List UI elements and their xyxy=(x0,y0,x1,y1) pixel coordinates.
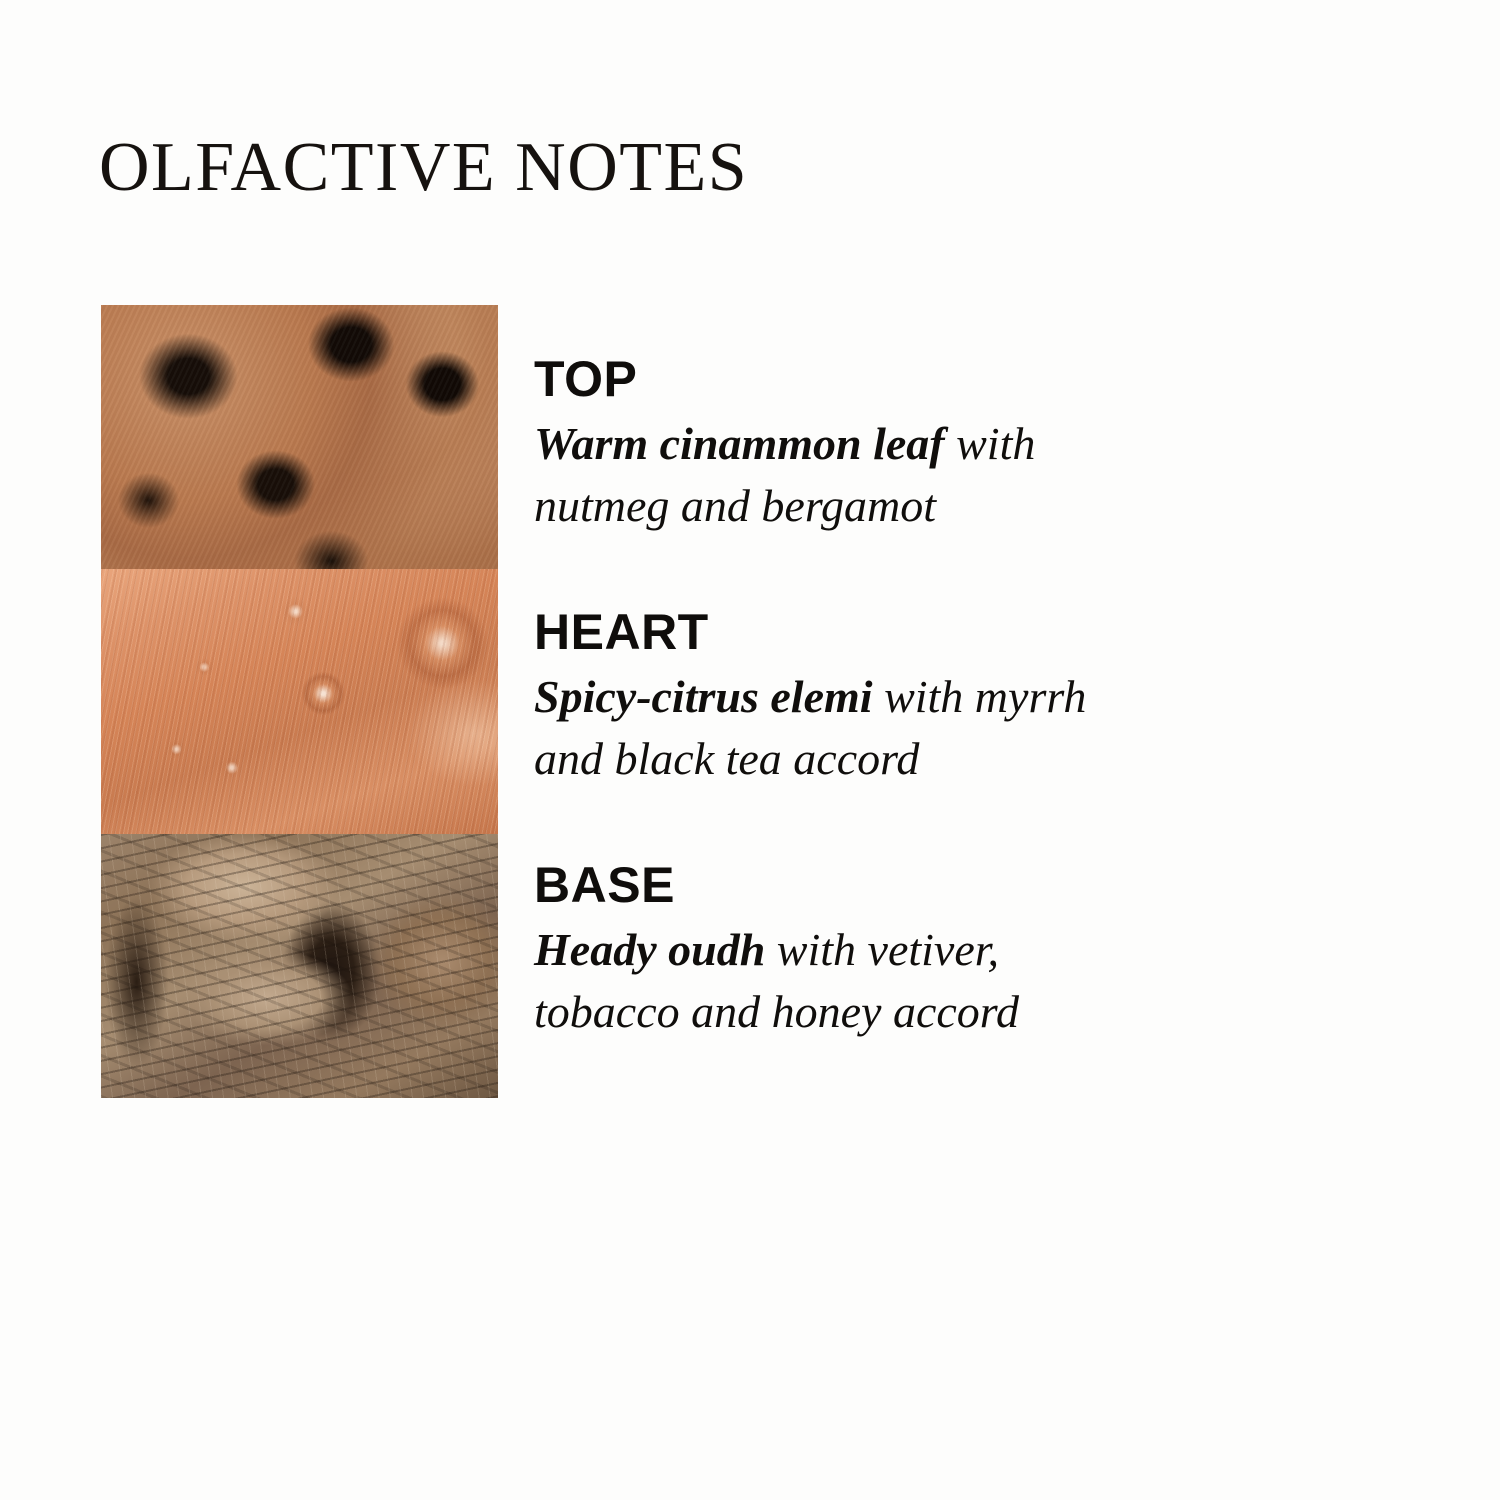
note-label-heart: HEART xyxy=(534,605,1174,659)
note-description-heart: Spicy-citrus elemi with myrrh and black … xyxy=(534,666,1144,790)
note-label-base: BASE xyxy=(534,858,1174,912)
note-description-base: Heady oudh with vetiver, tobacco and hon… xyxy=(534,919,1144,1043)
note-accent-heart: Spicy-citrus elemi xyxy=(534,671,873,722)
note-block-base: BASE Heady oudh with vetiver, tobacco an… xyxy=(534,858,1174,1043)
note-image-stack xyxy=(101,305,498,1098)
note-accent-base: Heady oudh xyxy=(534,924,765,975)
olfactive-notes-list: TOP Warm cinammon leaf with nutmeg and b… xyxy=(534,352,1174,1043)
note-description-top: Warm cinammon leaf with nutmeg and berga… xyxy=(534,413,1144,537)
page-title: OLFACTIVE NOTES xyxy=(99,133,748,203)
note-accent-top: Warm cinammon leaf xyxy=(534,418,945,469)
note-label-top: TOP xyxy=(534,352,1174,406)
elemi-resin-image xyxy=(101,569,498,833)
note-block-heart: HEART Spicy-citrus elemi with myrrh and … xyxy=(534,605,1174,790)
olfactive-notes-page: OLFACTIVE NOTES TOP Warm cinammon leaf w… xyxy=(0,0,1500,1500)
note-block-top: TOP Warm cinammon leaf with nutmeg and b… xyxy=(534,352,1174,537)
oudh-bark-image xyxy=(101,834,498,1098)
cinnamon-sticks-image xyxy=(101,305,498,569)
